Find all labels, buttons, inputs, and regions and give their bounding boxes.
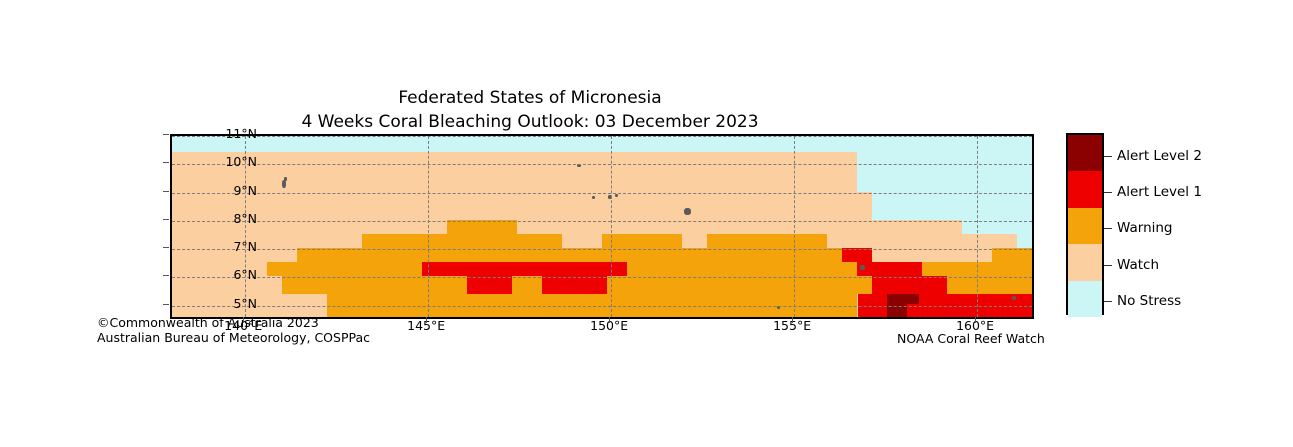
island-marker [642,194,658,205]
y-axis-tick-mark [163,304,169,305]
island-marker [615,194,618,197]
heatmap-cell [172,192,872,220]
heatmap-cell [542,276,607,294]
x-axis-tick-mark [975,317,976,323]
heatmap-cell [362,234,562,248]
island-marker [860,265,865,270]
heatmap-cell [962,220,1032,234]
x-axis-tick-mark [792,317,793,323]
legend-swatch [1068,135,1102,172]
heatmap-cell [172,152,272,162]
heatmap-cell [467,262,627,276]
y-axis-tick-mark [163,134,169,135]
y-axis-tick-label: 9°N [187,191,257,203]
legend-colorbar [1066,133,1104,315]
legend-swatch [1068,208,1102,245]
title-line-2: 4 Weeks Coral Bleaching Outlook: 03 Dece… [0,110,1060,134]
heatmap-cell [297,248,857,262]
heatmap-cell [602,234,682,248]
heatmap-cell [447,220,517,234]
legend-tick-mark [1104,301,1112,302]
y-axis-tick-mark [163,191,169,192]
legend-swatch [1068,281,1102,317]
y-axis-tick-label: 7°N [187,247,257,259]
heatmap-cell [172,220,962,234]
legend-swatch [1068,171,1102,208]
heatmap-cell [872,192,1032,220]
heatmap-cell [172,136,1032,152]
legend-label: Warning [1117,228,1173,244]
island-marker [202,234,222,248]
legend-label: Watch [1117,265,1159,281]
island-marker [777,306,780,309]
heatmap-cell [842,248,872,262]
island-marker [282,180,286,188]
attribution-bureau: Australian Bureau of Meteorology, COSPPa… [97,331,370,346]
y-axis-tick-label: 11°N [187,134,257,146]
y-axis-tick-label: 6°N [187,275,257,287]
page-title: Federated States of Micronesia 4 Weeks C… [0,86,1060,134]
island-marker [608,195,612,199]
legend-label: Alert Level 1 [1117,192,1202,208]
heatmap-cell [858,294,1032,317]
heatmap-cell [992,248,1032,262]
island-marker [592,196,595,199]
map-plot-area [170,134,1034,319]
island-marker [684,208,691,215]
island-marker [577,164,581,167]
y-axis-tick-label: 5°N [187,304,257,316]
heatmap-cell [872,276,947,294]
heatmap-cell [172,162,857,192]
legend-tick-mark [1104,192,1112,193]
legend-tick-mark [1104,156,1112,157]
heatmap-cell [922,262,1032,276]
y-axis-tick-mark [163,162,169,163]
heatmap-cells [172,136,1032,317]
y-axis-tick-mark [163,275,169,276]
island-marker [284,177,287,181]
legend-label: No Stress [1117,301,1181,317]
legend-tick-mark [1104,265,1112,266]
legend-label: Alert Level 2 [1117,156,1202,172]
y-axis-tick-mark [163,219,169,220]
heatmap-cell [857,262,922,276]
heatmap-cell [707,234,827,248]
attribution-copyright: ©Commonwealth of Australia 2023 [97,316,370,331]
heatmap-cell [317,152,857,162]
heatmap-cell [467,276,512,294]
title-line-1: Federated States of Micronesia [0,86,1060,110]
x-axis-tick-mark [609,317,610,323]
y-axis-tick-label: 8°N [187,219,257,231]
heatmap-cell [857,152,1032,165]
island-marker [1012,296,1016,300]
y-axis-tick-label: 10°N [187,162,257,174]
x-axis-tick-mark [426,317,427,323]
attribution-noaa: NOAA Coral Reef Watch [897,331,1045,346]
legend-tick-mark [1104,228,1112,229]
heatmap-cell [887,294,919,304]
coral-bleaching-outlook-figure: Federated States of Micronesia 4 Weeks C… [0,0,1293,447]
attribution-left: ©Commonwealth of Australia 2023 Australi… [97,316,370,345]
y-axis-tick-mark [163,247,169,248]
legend-swatch [1068,244,1102,281]
heatmap-cell [857,165,1032,192]
heatmap-cell [1017,234,1032,248]
